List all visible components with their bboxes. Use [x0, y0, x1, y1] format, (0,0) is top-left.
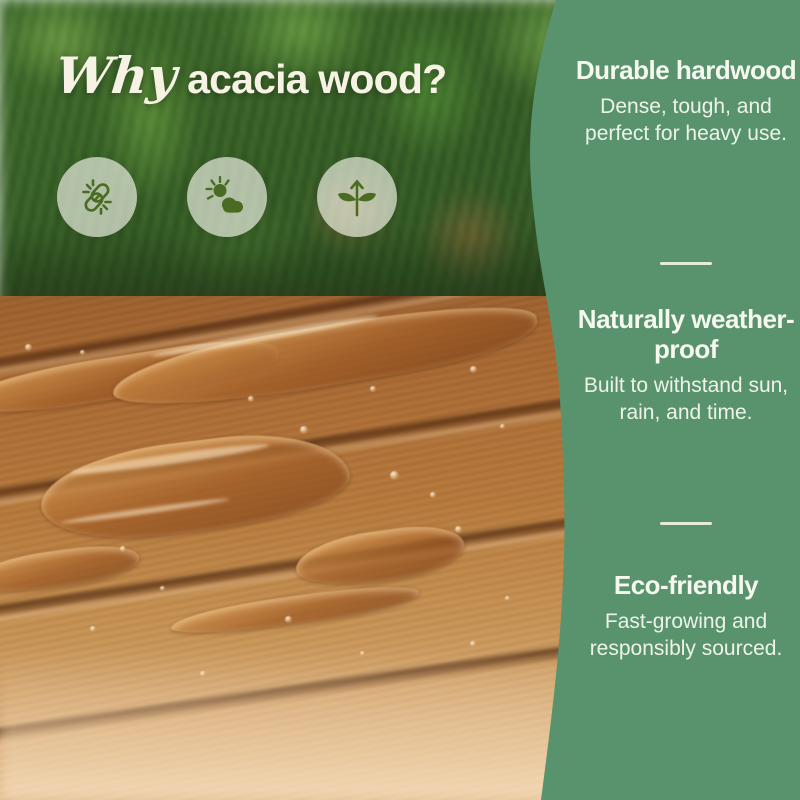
feature-durable-hardwood: Durable hardwood Dense, tough, and perfe… [572, 55, 800, 148]
feature-title: Eco-friendly [572, 570, 800, 600]
feature-description: Dense, tough, and perfect for heavy use. [572, 94, 800, 148]
water-droplet [25, 344, 32, 351]
sun-behind-cloud-icon [203, 174, 251, 220]
feature-divider [660, 522, 712, 525]
chain-link-icon [74, 174, 120, 220]
feature-eco-friendly: Eco-friendly Fast-growing and responsibl… [572, 570, 800, 663]
water-droplet [390, 471, 399, 480]
feature-description: Fast-growing and responsibly sourced. [572, 609, 800, 663]
poster-canvas: Why acacia wood? [0, 0, 800, 800]
water-droplet [248, 396, 254, 402]
water-droplet [370, 386, 376, 392]
feature-title: Naturally weather-proof [572, 304, 800, 364]
water-droplet [285, 616, 292, 623]
water-droplet [160, 586, 165, 591]
icon-badge-row [57, 157, 397, 237]
water-droplet [120, 546, 126, 552]
feature-list: Durable hardwood Dense, tough, and perfe… [572, 0, 800, 800]
water-droplet [500, 424, 505, 429]
feature-description: Built to withstand sun, rain, and time. [572, 373, 800, 427]
badge-eco-friendly [317, 157, 397, 237]
badge-durable [57, 157, 137, 237]
headline-bold-words: acacia wood? [187, 56, 446, 103]
headline-script-word: Why [53, 46, 179, 105]
water-droplet [80, 350, 85, 355]
water-droplet [470, 641, 476, 647]
water-droplet [430, 492, 436, 498]
water-droplet [470, 366, 477, 373]
badge-weather-proof [187, 157, 267, 237]
headline: Why acacia wood? [56, 46, 446, 105]
feature-naturally-weather-proof: Naturally weather-proof Built to withsta… [572, 304, 800, 427]
water-droplet [300, 426, 308, 434]
growing-sprout-arrow-icon [334, 174, 380, 220]
feature-divider [660, 262, 712, 265]
water-droplet [90, 626, 96, 632]
water-droplet [505, 596, 510, 601]
feature-title: Durable hardwood [572, 55, 800, 85]
water-droplet [455, 526, 462, 533]
